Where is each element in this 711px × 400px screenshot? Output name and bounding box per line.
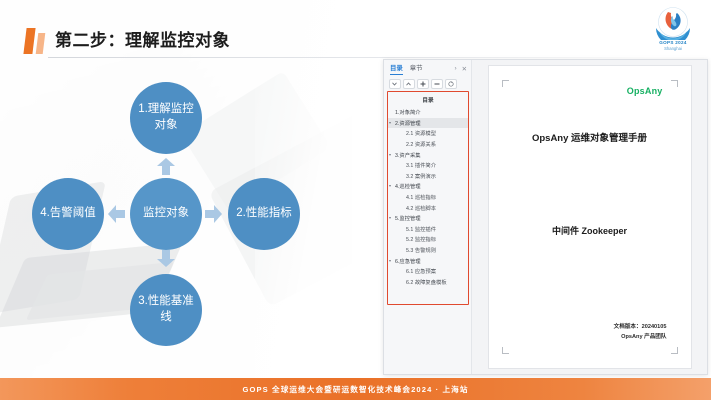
close-icon[interactable]: ✕ — [462, 65, 467, 73]
toc-item[interactable]: 3.2 案例演示 — [388, 171, 468, 182]
arrow-right-icon — [205, 205, 222, 223]
diagram-node-performance-metrics[interactable]: 2.性能指标 — [228, 178, 300, 250]
page-corner-mark — [502, 347, 509, 354]
toc-item-label: 2.资源管理 — [395, 119, 421, 127]
toc-header: 目录 — [388, 95, 468, 107]
logo-text-secondary: Shanghai — [647, 46, 699, 52]
diagram-center-label: 监控对象 — [143, 206, 189, 222]
document-canvas[interactable]: OpsAny OpsAny 运维对象管理手册 中间件 Zookeeper 文档版… — [472, 60, 707, 374]
toc-item[interactable]: ▾2.资源管理 — [388, 118, 468, 129]
collapse-all-button[interactable] — [431, 79, 443, 89]
viewer-sidebar: 目录 章节 › ✕ — [384, 60, 472, 374]
toc-item-label: 3.1 插件简介 — [406, 161, 436, 169]
toc-item[interactable]: 4.2 巡检脚本 — [388, 202, 468, 213]
document-page: OpsAny OpsAny 运维对象管理手册 中间件 Zookeeper 文档版… — [488, 65, 692, 369]
page-corner-mark — [671, 347, 678, 354]
document-title: OpsAny 运维对象管理手册 — [489, 130, 691, 144]
page-title: 第二步：理解监控对象 — [55, 26, 230, 51]
toc-item[interactable]: ▾4.巡检管理 — [388, 181, 468, 192]
toc-item[interactable]: ▾3.资产采集 — [388, 149, 468, 160]
toc-item[interactable]: 4.1 巡检指标 — [388, 192, 468, 203]
diagram-node-alert-threshold[interactable]: 4.告警阈值 — [32, 178, 104, 250]
toc-item[interactable]: 2.2 资源关系 — [388, 139, 468, 150]
toc-item-label: 6.1 应急预案 — [406, 267, 436, 275]
diagram-node-performance-baseline[interactable]: 3.性能基准线 — [130, 274, 202, 346]
refresh-button[interactable] — [445, 79, 457, 89]
toc-item-label: 5.3 告警规则 — [406, 246, 436, 254]
title-divider — [48, 57, 648, 58]
diagram-node-center[interactable]: 监控对象 — [130, 178, 202, 250]
viewer-toolbar — [384, 77, 471, 92]
document-version: 文档版本：20240105 — [614, 322, 667, 332]
tab-contents[interactable]: 目录 — [390, 63, 403, 74]
toc-item-label: 5.2 监控指标 — [406, 235, 436, 243]
document-viewer-window: 目录 章节 › ✕ — [383, 59, 708, 375]
toc-item-label: 3.2 案例演示 — [406, 172, 436, 180]
slide-header: 第二步：理解监控对象 — [0, 24, 640, 58]
toc-item-label: 4.1 巡检指标 — [406, 193, 436, 201]
collapse-down-button[interactable] — [389, 79, 401, 89]
toc-item-label: 4.巡检管理 — [395, 182, 421, 190]
title-accent-bars-icon — [25, 28, 47, 54]
diagram-node-label: 3.性能基准线 — [134, 294, 198, 325]
diagram-node-label: 4.告警阈值 — [40, 206, 96, 222]
toc-item[interactable]: 5.1 监控插件 — [388, 224, 468, 235]
toc-item[interactable]: 1.对象简介 — [388, 107, 468, 118]
monitoring-object-diagram: 1.理解监控对象 2.性能指标 3.性能基准线 4.告警阈值 监控对象 — [0, 60, 350, 380]
diagram-node-label: 2.性能指标 — [236, 206, 292, 222]
arrow-down-icon — [157, 250, 175, 267]
page-corner-mark — [502, 80, 509, 87]
toc-item[interactable]: ▾5.监控管理 — [388, 213, 468, 224]
footer-label: GOPS 全球运维大会暨研运数智化技术峰会2024 · 上海站 — [242, 384, 468, 395]
toc-item[interactable]: 5.2 监控指标 — [388, 234, 468, 245]
toc-item[interactable]: ▾6.应急管理 — [388, 255, 468, 266]
toc-item-label: 3.资产采集 — [395, 151, 421, 159]
slide-canvas: 第二步：理解监控对象 GOPS 2024 Shanghai 1.理解 — [0, 0, 711, 400]
toc-item-label: 1.对象简介 — [395, 108, 421, 116]
gops-logo-mark-icon — [647, 6, 699, 40]
document-footer: 文档版本：20240105 OpsAny 产品团队 — [614, 322, 667, 342]
chevron-down-icon[interactable]: ▾ — [389, 153, 394, 157]
chevron-down-icon[interactable]: ▾ — [389, 184, 394, 188]
toc-item[interactable]: 6.1 应急预案 — [388, 266, 468, 277]
toc-item-label: 5.监控管理 — [395, 214, 421, 222]
page-corner-mark — [671, 80, 678, 87]
arrow-up-icon — [157, 158, 175, 175]
expand-all-button[interactable] — [417, 79, 429, 89]
toc-item[interactable]: 5.3 告警规则 — [388, 245, 468, 256]
arrow-left-icon — [108, 205, 125, 223]
viewer-tab-bar: 目录 章节 › ✕ — [384, 60, 471, 77]
toc-item-label: 6.应急管理 — [395, 257, 421, 265]
slide-footer: GOPS 全球运维大会暨研运数智化技术峰会2024 · 上海站 — [0, 378, 711, 400]
toc-item-label: 2.2 资源关系 — [406, 140, 436, 148]
toc-item-label: 4.2 巡检脚本 — [406, 204, 436, 212]
collapse-up-button[interactable] — [403, 79, 415, 89]
table-of-contents: 目录 1.对象简介▾2.资源管理2.1 资源模型2.2 资源关系▾3.资产采集3… — [388, 92, 468, 287]
toc-item-label: 5.1 监控插件 — [406, 225, 436, 233]
toc-item[interactable]: 3.1 插件简介 — [388, 160, 468, 171]
tab-chapters[interactable]: 章节 — [410, 63, 423, 74]
document-author: OpsAny 产品团队 — [614, 332, 667, 342]
chevron-down-icon[interactable]: ▾ — [389, 121, 394, 125]
toc-item[interactable]: 6.2 故障复盘模板 — [388, 277, 468, 288]
document-subtitle: 中间件 Zookeeper — [489, 224, 691, 237]
chevron-right-icon[interactable]: › — [455, 65, 457, 73]
document-brand-logo: OpsAny — [627, 86, 663, 96]
gops-logo: GOPS 2024 Shanghai — [647, 6, 699, 56]
chevron-down-icon[interactable]: ▾ — [389, 259, 394, 263]
toc-item-label: 2.1 资源模型 — [406, 129, 436, 137]
diagram-node-understand-object[interactable]: 1.理解监控对象 — [130, 82, 202, 154]
chevron-down-icon[interactable]: ▾ — [389, 216, 394, 220]
toc-item[interactable]: 2.1 资源模型 — [388, 128, 468, 139]
diagram-node-label: 1.理解监控对象 — [134, 102, 198, 133]
toc-item-label: 6.2 故障复盘模板 — [406, 278, 447, 286]
